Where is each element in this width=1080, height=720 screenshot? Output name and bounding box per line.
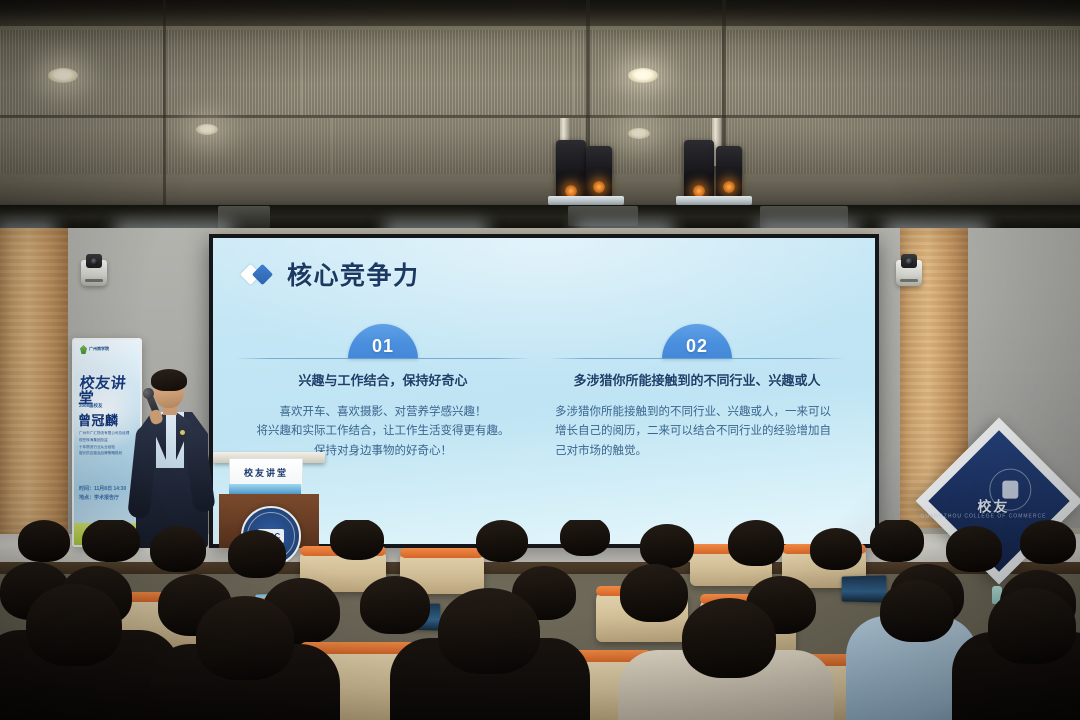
- recessed-downlight: [628, 128, 650, 139]
- column-body: 多涉猎你所能接触到的不同行业、兴趣或人，一来可以增长自己的阅历，二来可以结合不同…: [549, 403, 845, 462]
- ptz-camera-icon: [81, 252, 107, 286]
- truss-housing: [218, 206, 270, 228]
- audience-head: [988, 588, 1076, 664]
- lapel-pin: [180, 430, 185, 435]
- recessed-downlight: [628, 68, 658, 83]
- audience-head: [150, 526, 206, 572]
- audience-head: [560, 520, 610, 556]
- audience-head: [946, 526, 1002, 572]
- audience-head: [682, 598, 776, 678]
- divider-line: [235, 358, 531, 359]
- double-diamond-icon: [243, 265, 277, 284]
- audience-area: [0, 520, 1080, 720]
- banner-speaker-name: 曾冠麟: [78, 410, 119, 429]
- lecture-hall-photo: 核心竞争力 01 兴趣与工作结合，保持好奇心 喜欢开车、喜欢摄影、对营养学感兴趣…: [0, 0, 1080, 720]
- audience-head: [728, 520, 784, 566]
- column-heading: 多涉猎你所能接触到的不同行业、兴趣或人: [549, 372, 845, 390]
- audience-head: [438, 588, 540, 674]
- number-badge-label: 02: [662, 336, 732, 357]
- stage-light: [716, 146, 742, 198]
- number-badge-02: 02: [662, 324, 732, 359]
- ptz-camera-icon: [896, 252, 922, 286]
- recessed-downlight: [48, 68, 78, 83]
- number-badge-label: 01: [348, 336, 418, 357]
- audience-head: [360, 576, 430, 634]
- slide-header: 核心竞争力: [243, 256, 420, 292]
- audience-head: [810, 528, 862, 570]
- seat-top-rail: [400, 548, 484, 558]
- diamond-banner-subtext: GUANGZHOU COLLEGE OF COMMERCE: [920, 514, 1046, 520]
- column-heading: 兴趣与工作结合，保持好奇心: [235, 372, 531, 390]
- light-mount: [676, 196, 752, 205]
- podium-sign-label: 校友讲堂: [244, 466, 288, 479]
- audience-head: [196, 596, 294, 680]
- school-logo-mark: [80, 345, 87, 354]
- light-mount: [548, 196, 624, 205]
- audience-head: [870, 520, 924, 562]
- recessed-downlight: [196, 124, 218, 135]
- podium-sign: 校友讲堂: [229, 458, 303, 486]
- number-badge-01: 01: [348, 324, 418, 359]
- wood-wall-panel: [0, 228, 68, 534]
- stage-light: [556, 140, 586, 202]
- slide-title: 核心竞争力: [287, 256, 420, 292]
- banner-schedule: 时间：11月8日 14:30 地点：学术报告厅: [79, 485, 126, 503]
- audience-head: [82, 520, 140, 562]
- slide-column-01: 01 兴趣与工作结合，保持好奇心 喜欢开车、喜欢摄影、对营养学感兴趣！ 将兴趣和…: [235, 324, 531, 462]
- slide-column-02: 02 多涉猎你所能接触到的不同行业、兴趣或人 多涉猎你所能接触到的不同行业、兴趣…: [549, 324, 845, 462]
- audience-head: [476, 520, 528, 562]
- audience-head: [330, 520, 384, 560]
- truss-housing: [568, 206, 638, 226]
- laptop-screen: [842, 575, 887, 602]
- ceiling: [0, 0, 1080, 210]
- school-logo-text: 广州商学院: [89, 347, 109, 351]
- audience-head: [26, 584, 122, 666]
- stage-light: [586, 146, 612, 198]
- audience-head: [1020, 520, 1076, 564]
- audience-head: [228, 530, 286, 578]
- divider-line: [549, 358, 845, 359]
- stage-light: [684, 140, 714, 202]
- audience-head: [18, 520, 70, 562]
- audience-head: [640, 524, 694, 568]
- banner-year-tag: 2008届校友: [79, 403, 103, 409]
- audience-head: [620, 564, 688, 622]
- audience-head: [880, 580, 954, 642]
- school-logo: 广州商学院: [80, 345, 109, 354]
- truss-housing: [760, 206, 848, 228]
